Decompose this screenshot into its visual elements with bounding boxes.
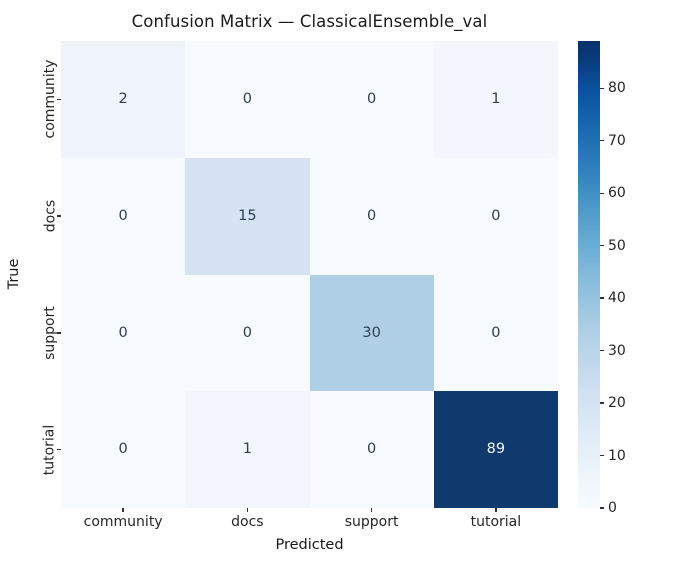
colorbar-tick-mark bbox=[600, 245, 604, 246]
colorbar-tick-label: 40 bbox=[608, 291, 626, 305]
heatmap-cell-value: 89 bbox=[487, 442, 505, 457]
heatmap-cell: 0 bbox=[434, 275, 558, 392]
heatmap-cell-value: 0 bbox=[243, 92, 252, 107]
y-tick-label: tutorial bbox=[42, 424, 58, 475]
heatmap-cell: 89 bbox=[434, 391, 558, 508]
heatmap-cell-value: 2 bbox=[119, 92, 128, 107]
colorbar-gradient bbox=[578, 41, 600, 508]
colorbar-tick-label: 30 bbox=[608, 344, 626, 358]
x-tick-label: docs bbox=[231, 514, 263, 530]
heatmap-cell-value: 30 bbox=[362, 326, 380, 341]
heatmap-plot-area: 2001015000030001089 bbox=[61, 41, 558, 508]
colorbar-tick-label: 60 bbox=[608, 186, 626, 200]
heatmap-cell: 1 bbox=[185, 391, 309, 508]
colorbar-tick-label: 10 bbox=[608, 449, 626, 463]
heatmap-cell: 0 bbox=[61, 275, 185, 392]
x-tick-label: tutorial bbox=[471, 514, 522, 530]
x-tick-mark bbox=[122, 508, 123, 512]
x-tick-mark bbox=[247, 508, 248, 512]
y-axis-title: True bbox=[6, 259, 22, 290]
heatmap-cell-value: 15 bbox=[238, 209, 256, 224]
heatmap-cell-value: 0 bbox=[243, 326, 252, 341]
heatmap-cell: 0 bbox=[310, 391, 434, 508]
colorbar-tick-mark bbox=[600, 455, 604, 456]
colorbar-tick-label: 50 bbox=[608, 239, 626, 253]
colorbar-tick-mark bbox=[600, 507, 604, 508]
heatmap-cell: 0 bbox=[61, 391, 185, 508]
heatmap-cell: 0 bbox=[434, 158, 558, 275]
colorbar-tick-mark bbox=[600, 140, 604, 141]
colorbar-tick-label: 80 bbox=[608, 81, 626, 95]
colorbar bbox=[578, 41, 600, 508]
colorbar-tick-mark bbox=[600, 402, 604, 403]
heatmap-cell-value: 1 bbox=[243, 442, 252, 457]
x-axis-title: Predicted bbox=[61, 537, 558, 553]
heatmap-cell: 2 bbox=[61, 41, 185, 158]
y-tick-label: support bbox=[42, 306, 58, 360]
heatmap-cell-value: 0 bbox=[119, 209, 128, 224]
x-tick-label: support bbox=[345, 514, 399, 530]
x-tick-mark bbox=[371, 508, 372, 512]
heatmap-cell: 0 bbox=[61, 158, 185, 275]
heatmap-cell: 0 bbox=[185, 275, 309, 392]
heatmap-cell-value: 0 bbox=[491, 209, 500, 224]
colorbar-tick-label: 0 bbox=[608, 501, 617, 515]
chart-title: Confusion Matrix — ClassicalEnsemble_val bbox=[61, 12, 558, 31]
heatmap-cell-value: 0 bbox=[367, 442, 376, 457]
heatmap-cell-value: 0 bbox=[367, 209, 376, 224]
y-tick-label: community bbox=[42, 60, 58, 139]
x-tick-mark bbox=[495, 508, 496, 512]
colorbar-tick-label: 70 bbox=[608, 134, 626, 148]
heatmap-cell-value: 0 bbox=[491, 326, 500, 341]
heatmap-cell-value: 0 bbox=[119, 326, 128, 341]
colorbar-tick-mark bbox=[600, 193, 604, 194]
heatmap-cell: 0 bbox=[310, 158, 434, 275]
y-tick-label: docs bbox=[42, 200, 58, 232]
heatmap-cell-value: 0 bbox=[367, 92, 376, 107]
heatmap-cell-value: 0 bbox=[119, 442, 128, 457]
y-tick-mark bbox=[57, 449, 61, 450]
colorbar-tick-mark bbox=[600, 88, 604, 89]
heatmap-cell: 1 bbox=[434, 41, 558, 158]
heatmap-grid: 2001015000030001089 bbox=[61, 41, 558, 508]
x-tick-label: community bbox=[84, 514, 163, 530]
colorbar-tick-mark bbox=[600, 297, 604, 298]
colorbar-tick-label: 20 bbox=[608, 396, 626, 410]
confusion-matrix-figure: Confusion Matrix — ClassicalEnsemble_val… bbox=[0, 0, 688, 573]
heatmap-cell: 15 bbox=[185, 158, 309, 275]
heatmap-cell-value: 1 bbox=[491, 92, 500, 107]
heatmap-cell: 30 bbox=[310, 275, 434, 392]
heatmap-cell: 0 bbox=[310, 41, 434, 158]
colorbar-tick-mark bbox=[600, 350, 604, 351]
heatmap-cell: 0 bbox=[185, 41, 309, 158]
